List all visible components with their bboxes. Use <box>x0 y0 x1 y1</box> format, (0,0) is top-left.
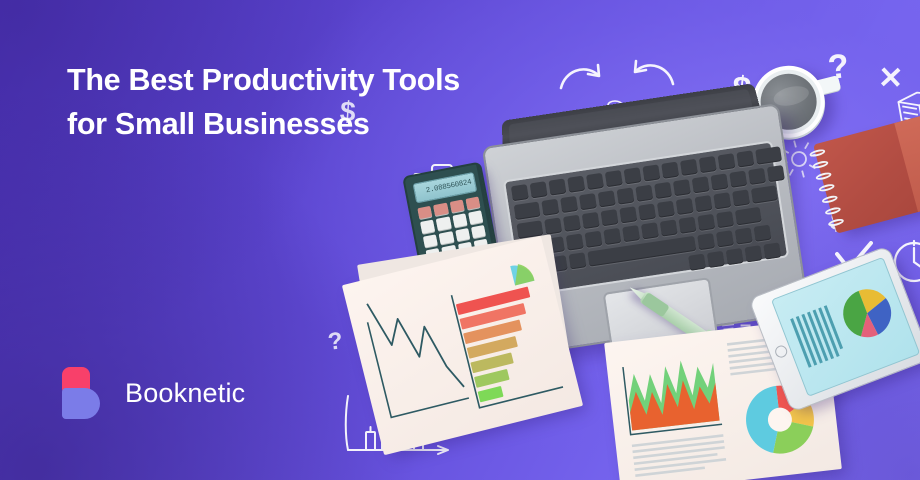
line-chart-series <box>367 286 464 405</box>
calculator-key[interactable] <box>465 196 480 210</box>
booknetic-logo-icon <box>60 367 108 419</box>
calculator-key[interactable] <box>471 225 486 239</box>
calculator-display-value: 2.088560824 <box>425 179 472 196</box>
x-mark-icon: ✕ <box>877 64 903 95</box>
brand-name: Booknetic <box>125 378 245 409</box>
calculator-key[interactable] <box>452 214 467 228</box>
calculator-key[interactable] <box>433 203 448 217</box>
calculator-key[interactable] <box>417 206 432 220</box>
calculator-key[interactable] <box>455 228 470 242</box>
curved-arrow-left-icon <box>632 58 676 92</box>
text-lines-bottom <box>632 434 727 477</box>
promo-banner: The Best Productivity Tools for Small Bu… <box>0 0 920 480</box>
calculator-key[interactable] <box>449 200 464 214</box>
calculator-key[interactable] <box>436 217 451 231</box>
report-line-chart <box>342 236 583 455</box>
desk-illustration: ! $ ? ✕ ? $ ? <box>340 40 920 480</box>
brand-logo[interactable]: Booknetic <box>60 367 245 419</box>
partial-pie-chart <box>510 261 534 285</box>
question-mark-icon: ? <box>327 329 344 354</box>
calculator-key[interactable] <box>439 231 454 245</box>
tablet-pie-chart <box>836 282 898 344</box>
logo-mark-bottom-shape <box>62 388 100 419</box>
tablet-text-lines <box>790 305 845 368</box>
calculator-key[interactable] <box>423 234 438 248</box>
ranked-bar-chart <box>451 274 563 407</box>
curved-arrow-right-icon <box>558 62 602 96</box>
calculator-key[interactable] <box>468 211 483 225</box>
area-chart <box>623 357 722 435</box>
notebook-band <box>894 114 920 212</box>
dollar-sign-icon: $ <box>339 97 356 126</box>
line-chart-axes <box>368 303 469 417</box>
calculator-key[interactable] <box>420 220 435 234</box>
